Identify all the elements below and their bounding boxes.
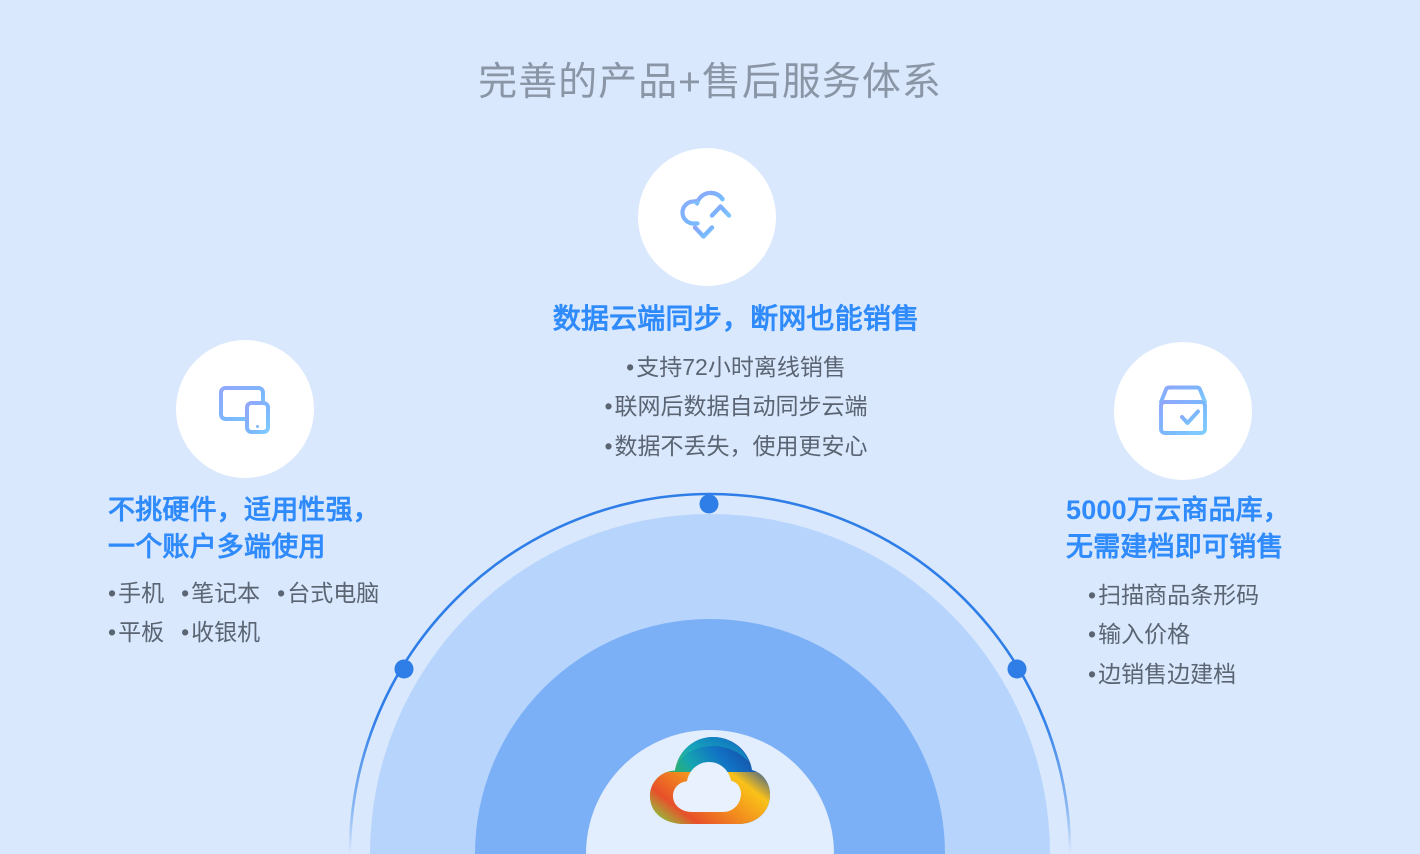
right-heading: 5000万云商品库， 无需建档即可销售 bbox=[1066, 492, 1396, 567]
list-item: •联网后数据自动同步云端 bbox=[536, 387, 936, 427]
left-bullet-list: •手机•笔记本•台式电脑 •平板•收银机 bbox=[108, 574, 448, 653]
bullet-segment: •手机 bbox=[108, 580, 164, 606]
right-bullet-list: •扫描商品条形码 •输入价格 •边销售边建档 bbox=[1066, 576, 1396, 695]
bullet-dot: • bbox=[1088, 661, 1096, 687]
product-box-check-icon bbox=[1144, 372, 1222, 450]
list-item: •数据不丢失，使用更安心 bbox=[536, 427, 936, 467]
bullet-text: 边销售边建档 bbox=[1098, 661, 1236, 687]
bullet-dot: • bbox=[108, 619, 116, 645]
bullet-dot: • bbox=[181, 619, 189, 645]
right-heading-line2: 无需建档即可销售 bbox=[1066, 532, 1284, 562]
list-item: •边销售边建档 bbox=[1088, 655, 1396, 695]
list-item: •支持72小时离线销售 bbox=[536, 348, 936, 388]
bullet-dot: • bbox=[1088, 582, 1096, 608]
bullet-text: 平板 bbox=[118, 619, 164, 645]
bullet-text: 手机 bbox=[118, 580, 164, 606]
multi-device-badge bbox=[176, 340, 314, 478]
bullet-text: 输入价格 bbox=[1098, 621, 1190, 647]
badge-disc bbox=[656, 166, 758, 268]
bullet-text: 扫描商品条形码 bbox=[1098, 582, 1259, 608]
left-content-block: 不挑硬件，适用性强， 一个账户多端使用 •手机•笔记本•台式电脑 •平板•收银机 bbox=[108, 492, 448, 653]
center-content-block: 数据云端同步，断网也能销售 •支持72小时离线销售 •联网后数据自动同步云端 •… bbox=[536, 300, 936, 466]
bullet-dot: • bbox=[277, 580, 285, 606]
infographic-canvas: 完善的产品+售后服务体系 数据云 bbox=[0, 0, 1420, 854]
right-content-block: 5000万云商品库， 无需建档即可销售 •扫描商品条形码 •输入价格 •边销售边… bbox=[1066, 492, 1396, 694]
arc-node-left bbox=[395, 660, 414, 679]
bullet-text: 收银机 bbox=[191, 619, 260, 645]
bullet-segment: •笔记本 bbox=[181, 580, 260, 606]
bullet-dot: • bbox=[604, 393, 612, 419]
center-bullet-list: •支持72小时离线销售 •联网后数据自动同步云端 •数据不丢失，使用更安心 bbox=[536, 348, 936, 467]
bullet-dot: • bbox=[604, 433, 612, 459]
left-heading: 不挑硬件，适用性强， 一个账户多端使用 bbox=[108, 492, 448, 567]
bullet-segment: •收银机 bbox=[181, 619, 260, 645]
bullet-dot: • bbox=[1088, 621, 1096, 647]
bullet-text: 笔记本 bbox=[191, 580, 260, 606]
center-heading: 数据云端同步，断网也能销售 bbox=[536, 300, 936, 339]
bullet-dot: • bbox=[626, 354, 634, 380]
page-title: 完善的产品+售后服务体系 bbox=[0, 60, 1420, 107]
bullet-segment: •平板 bbox=[108, 619, 164, 645]
badge-disc bbox=[1132, 360, 1234, 462]
list-item: •扫描商品条形码 bbox=[1088, 576, 1396, 616]
cloud-brand-logo bbox=[645, 728, 771, 832]
bullet-dot: • bbox=[181, 580, 189, 606]
bullet-dot: • bbox=[108, 580, 116, 606]
list-item: •手机•笔记本•台式电脑 bbox=[108, 574, 448, 614]
left-heading-line2: 一个账户多端使用 bbox=[108, 532, 326, 562]
multi-device-icon bbox=[207, 371, 283, 447]
bullet-segment: •台式电脑 bbox=[277, 580, 379, 606]
bullet-text: 联网后数据自动同步云端 bbox=[615, 393, 868, 419]
cloud-sync-icon bbox=[667, 177, 747, 257]
arc-node-right bbox=[1008, 660, 1027, 679]
arc-node-top bbox=[700, 495, 719, 514]
badge-disc bbox=[194, 358, 296, 460]
list-item: •输入价格 bbox=[1088, 615, 1396, 655]
bullet-text: 支持72小时离线销售 bbox=[636, 354, 846, 380]
left-heading-line1: 不挑硬件，适用性强， bbox=[108, 495, 380, 525]
right-heading-line1: 5000万云商品库， bbox=[1066, 495, 1290, 525]
bullet-text: 数据不丢失，使用更安心 bbox=[615, 433, 868, 459]
bullet-text: 台式电脑 bbox=[287, 580, 379, 606]
cloud-sync-badge bbox=[638, 148, 776, 286]
product-box-badge bbox=[1114, 342, 1252, 480]
list-item: •平板•收银机 bbox=[108, 613, 448, 653]
